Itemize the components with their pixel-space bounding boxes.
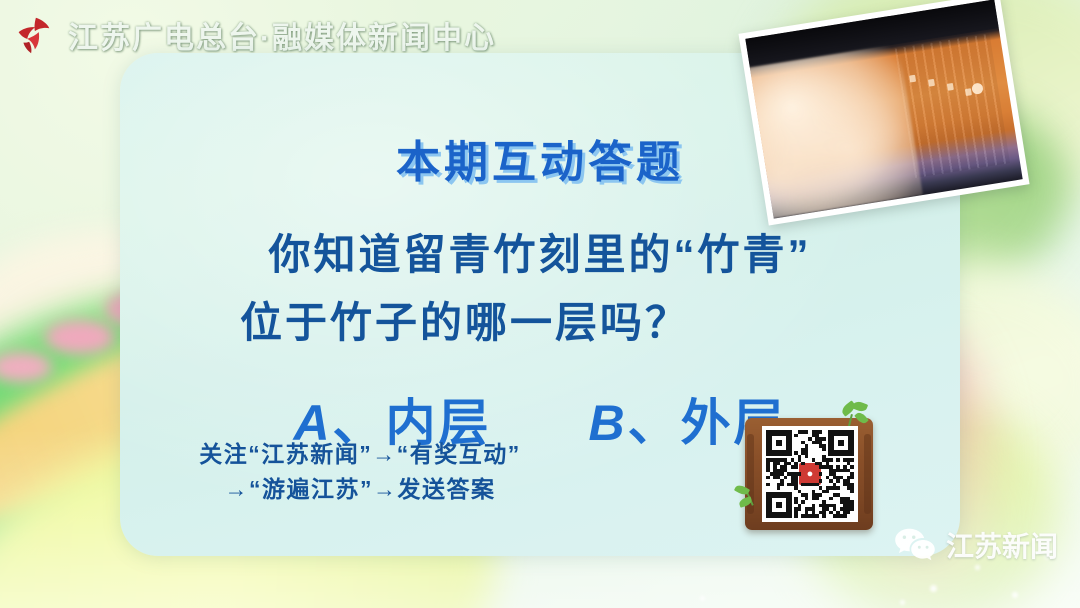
photo-carved-landscape [745, 44, 923, 219]
question-line-2: 位于竹子的哪一层吗？ [120, 289, 960, 357]
photo-inscription-glyph [965, 88, 972, 96]
brand-name: 江苏广电总台·融媒体新闻中心 [68, 13, 496, 57]
sparkle-dot [900, 600, 905, 605]
brand-header: 江苏广电总台·融媒体新闻中心 [10, 12, 496, 58]
qr-plaque[interactable]: ● [745, 418, 873, 530]
howto-instructions: 关注“江苏新闻”→“有奖互动” →“游遍江苏”→发送答案 [120, 437, 600, 506]
howto-line-2: →“游遍江苏”→发送答案 [120, 472, 600, 507]
qr-finder-bl [766, 492, 792, 518]
sparkle-dot [700, 596, 705, 601]
jsbc-swirl-logo-icon [10, 12, 56, 58]
qr-finder-tr [828, 430, 854, 456]
option-b-separator: 、 [628, 395, 681, 451]
qr-code-icon[interactable]: ● [762, 426, 858, 522]
howto-line-1: 关注“江苏新闻”→“有奖互动” [120, 437, 600, 472]
question-line-1: 你知道留青竹刻里的“竹青” [120, 221, 960, 289]
photo-image [745, 0, 1022, 219]
question-text: 你知道留青竹刻里的“竹青” 位于竹子的哪一层吗？ [120, 221, 960, 357]
background-blossom-1 [45, 320, 115, 354]
poster-canvas: 江苏广电总台·融媒体新闻中心 本期互动答题 你知道留青竹刻里的“竹青” 位于竹子… [0, 0, 1080, 608]
qr-matrix: ● [766, 430, 854, 518]
wechat-watermark: 江苏新闻 [893, 525, 1058, 565]
photo-inscription-glyph [909, 75, 916, 83]
sparkle-dot [930, 585, 937, 592]
wechat-account-name: 江苏新闻 [946, 525, 1058, 565]
sparkle-dot [975, 565, 980, 570]
wechat-icon [893, 527, 937, 563]
photo-inscription-glyph [928, 79, 935, 87]
sparkle-dot [1012, 592, 1018, 598]
qr-finder-tl [766, 430, 792, 456]
